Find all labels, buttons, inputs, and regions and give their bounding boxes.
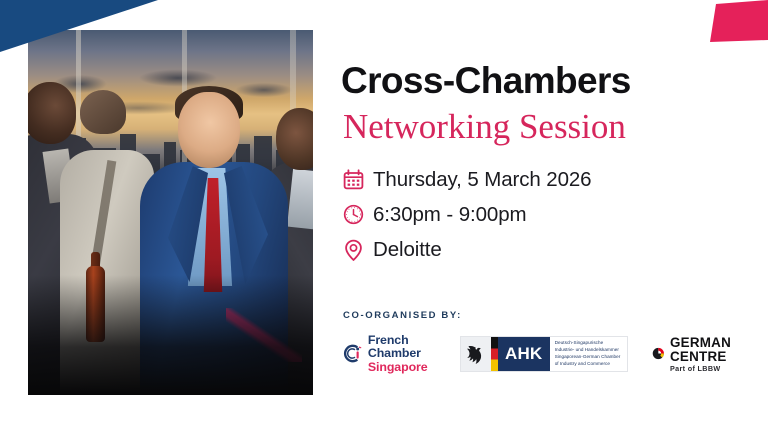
- detail-row-date: Thursday, 5 March 2026: [343, 162, 743, 197]
- page-title: Cross-Chambers: [341, 62, 631, 99]
- german-flag-stripe-icon: [491, 337, 498, 371]
- ahk-desc-line-4: of Industry and Commerce: [555, 361, 621, 368]
- photo-person-left-head: [28, 82, 76, 144]
- ahk-desc-line-3: Singaporean-German Chamber: [555, 354, 621, 361]
- page-subtitle: Networking Session: [343, 108, 626, 146]
- pink-corner-triangle: [686, 0, 768, 44]
- detail-row-venue: Deloitte: [343, 232, 743, 267]
- navy-corner-triangle: [0, 0, 158, 52]
- clock-icon: [343, 204, 373, 225]
- networking-photo: [28, 30, 313, 395]
- content-column: Cross-Chambers Networking Session: [341, 0, 751, 433]
- event-venue: Deloitte: [373, 238, 442, 262]
- event-date: Thursday, 5 March 2026: [373, 168, 591, 192]
- co-organised-label: CO-ORGANISED BY:: [343, 310, 462, 321]
- french-chamber-line2: Singapore: [368, 361, 436, 374]
- german-centre-wordmark: GERMAN CENTRE Part of LBBW: [670, 336, 751, 373]
- ahk-desc-line-2: Industrie- und Handelskammer: [555, 347, 621, 354]
- photo-person-center-head: [178, 92, 240, 168]
- german-centre-mark-icon: [652, 344, 665, 363]
- french-chamber-singapore-logo[interactable]: French Chamber Singapore: [343, 334, 460, 373]
- event-time: 6:30pm - 9:00pm: [373, 203, 526, 227]
- event-details: Thursday, 5 March 2026 6:30pm - 9:00pm: [343, 162, 743, 267]
- ahk-description: Deutsch-Singapurische Industrie- und Han…: [550, 337, 624, 371]
- german-centre-logo[interactable]: GERMAN CENTRE Part of LBBW: [628, 336, 751, 373]
- ahk-eagle-icon: [461, 337, 491, 371]
- german-centre-line1: GERMAN CENTRE: [670, 336, 751, 365]
- french-chamber-line1: French Chamber: [368, 334, 436, 360]
- event-banner: Cross-Chambers Networking Session: [0, 0, 768, 433]
- calendar-icon: [343, 169, 373, 190]
- photo-person-woman-head: [84, 96, 136, 158]
- photo-foreground-vignette: [28, 275, 313, 395]
- ahk-abbreviation: AHK: [498, 337, 550, 371]
- partner-logos: French Chamber Singapore AHK Deutsch-Sin…: [343, 334, 751, 374]
- french-chamber-wordmark: French Chamber Singapore: [368, 334, 436, 373]
- detail-row-time: 6:30pm - 9:00pm: [343, 197, 743, 232]
- ahk-desc-line-1: Deutsch-Singapurische: [555, 340, 621, 347]
- location-pin-icon: [343, 239, 373, 261]
- german-centre-line2: Part of LBBW: [670, 365, 751, 373]
- ahk-logo[interactable]: AHK Deutsch-Singapurische Industrie- und…: [460, 336, 629, 372]
- french-chamber-mark-icon: [343, 340, 362, 367]
